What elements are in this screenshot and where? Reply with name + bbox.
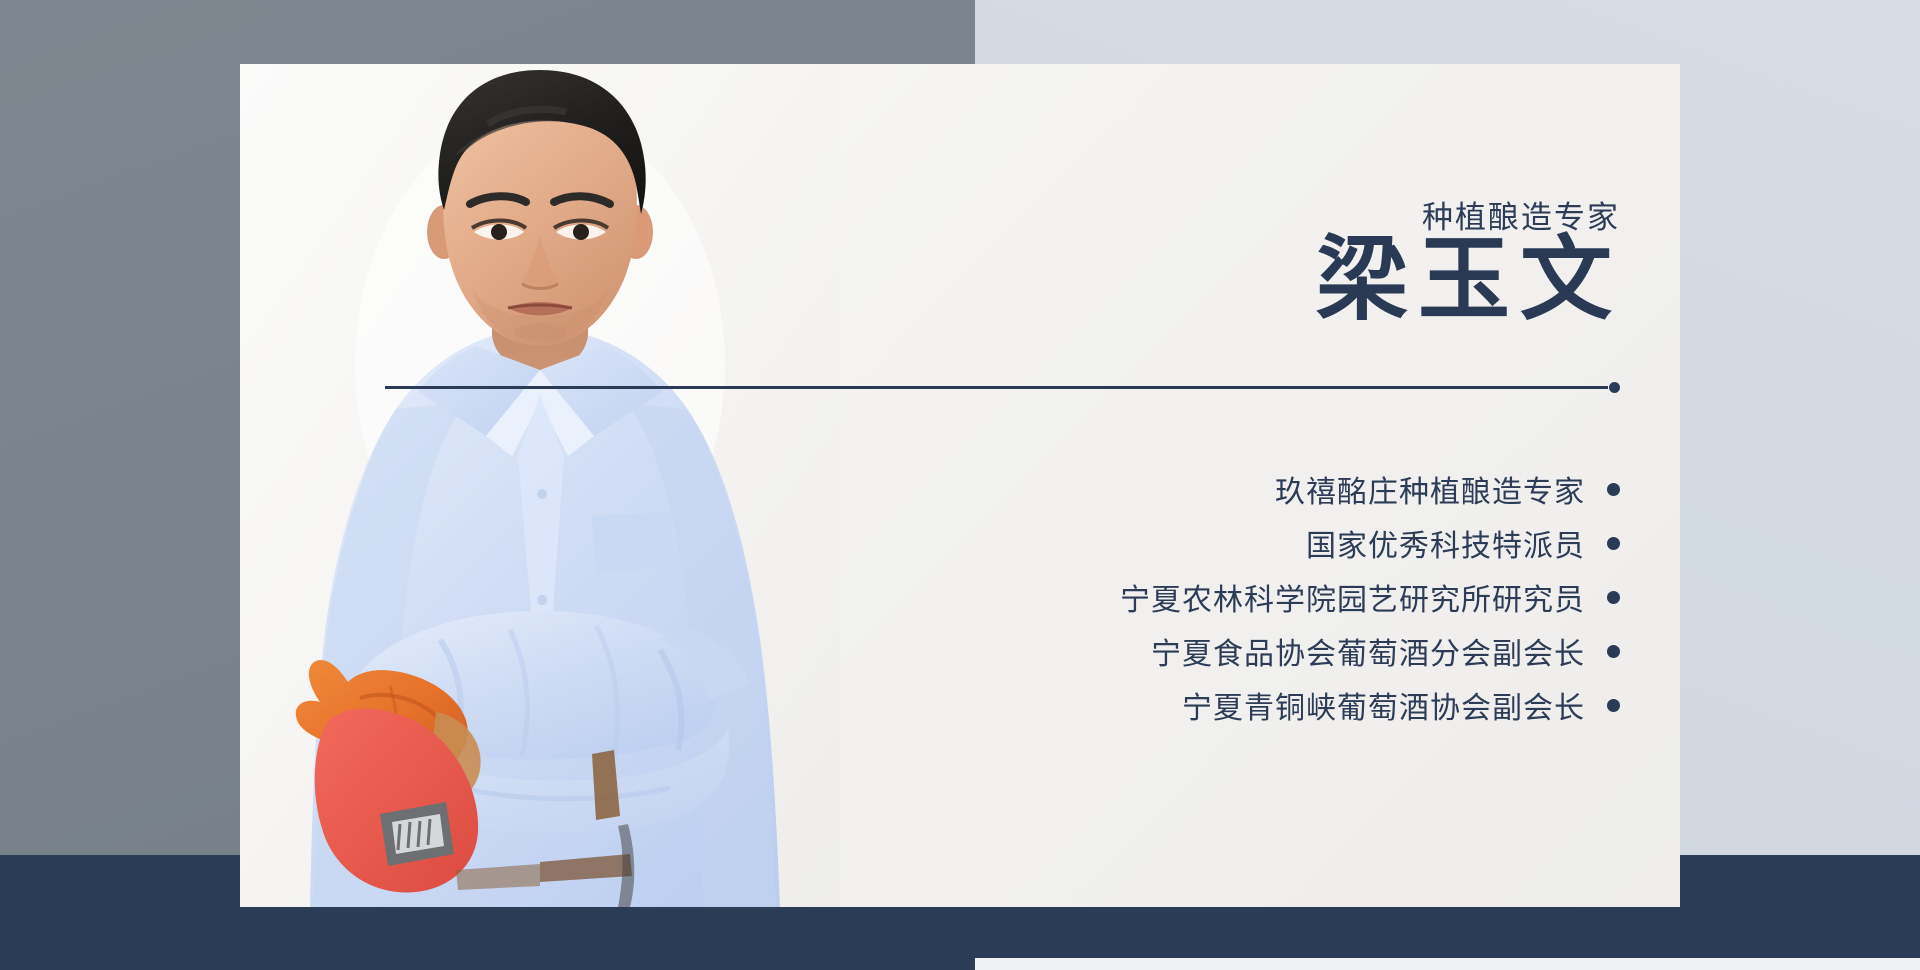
- background-bottom-light-strip: [975, 958, 1920, 970]
- list-item: 宁夏食品协会葡萄酒分会副会长: [1151, 624, 1620, 678]
- bullet-dot-icon: [1607, 537, 1620, 550]
- list-item: 宁夏农林科学院园艺研究所研究员: [1120, 570, 1620, 624]
- bullet-dot-icon: [1607, 591, 1620, 604]
- profile-card: 种植酿造专家 梁玉文 玖禧酩庄种植酿造专家 国家优秀科技特派员 宁夏农林科学院园…: [240, 64, 1680, 907]
- profile-text-column: 种植酿造专家 梁玉文 玖禧酩庄种植酿造专家 国家优秀科技特派员 宁夏农林科学院园…: [800, 64, 1620, 907]
- bullet-dot-icon: [1607, 645, 1620, 658]
- list-item: 国家优秀科技特派员: [1306, 516, 1620, 570]
- list-item: 玖禧酩庄种植酿造专家: [1275, 462, 1620, 516]
- credentials-list: 玖禧酩庄种植酿造专家 国家优秀科技特派员 宁夏农林科学院园艺研究所研究员 宁夏食…: [840, 462, 1620, 732]
- poster-stage: 种植酿造专家 梁玉文 玖禧酩庄种植酿造专家 国家优秀科技特派员 宁夏农林科学院园…: [0, 0, 1920, 970]
- divider-line: [385, 386, 1608, 389]
- bullet-dot-icon: [1607, 699, 1620, 712]
- credential-label: 宁夏食品协会葡萄酒分会副会长: [1151, 629, 1585, 673]
- credential-label: 宁夏青铜峡葡萄酒协会副会长: [1182, 683, 1585, 727]
- credential-label: 玖禧酩庄种植酿造专家: [1275, 467, 1585, 511]
- divider: [385, 382, 1620, 394]
- list-item: 宁夏青铜峡葡萄酒协会副会长: [1182, 678, 1620, 732]
- credential-label: 宁夏农林科学院园艺研究所研究员: [1120, 575, 1585, 619]
- divider-end-dot: [1609, 382, 1620, 393]
- credential-label: 国家优秀科技特派员: [1306, 521, 1585, 565]
- page-title: 梁玉文: [1316, 232, 1622, 329]
- bullet-dot-icon: [1607, 483, 1620, 496]
- portrait-photo: [240, 64, 840, 907]
